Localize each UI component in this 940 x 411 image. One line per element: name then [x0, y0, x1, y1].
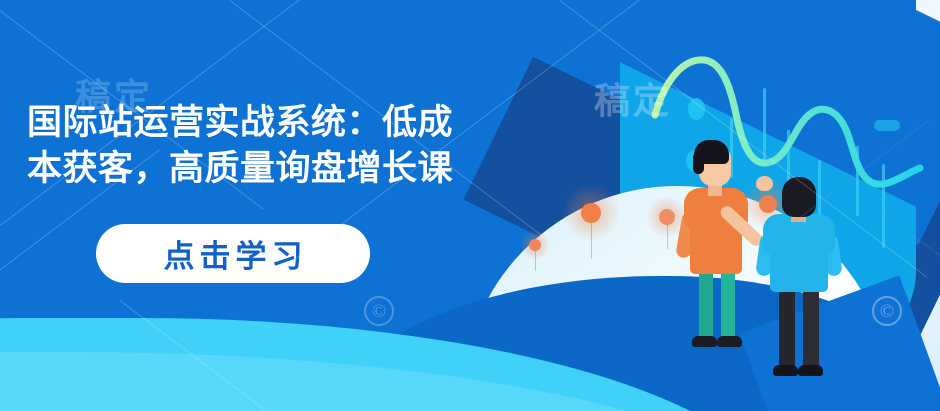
- click-to-learn-button[interactable]: 点击学习: [96, 224, 370, 283]
- figure-right-head: [782, 177, 816, 217]
- map-marker-2: [659, 209, 675, 225]
- map-marker-4: [759, 195, 777, 213]
- figure-left-hair-side: [693, 152, 704, 174]
- figure-right-leg-left: [779, 280, 795, 372]
- map-marker-stem-2: [667, 225, 668, 249]
- figure-left-shoe-right: [717, 336, 742, 347]
- figure-left-leg-left: [699, 266, 713, 344]
- map-marker-1: [581, 203, 601, 223]
- map-marker-3: [529, 239, 541, 251]
- figure-right-leg-right: [803, 280, 819, 372]
- figure-right-shoe-left: [773, 365, 798, 376]
- course-promo-banner: 国际站运营实战系统：低成 本获客，高质量询盘增长课 点击学习 稿定 稿定 © ©: [0, 0, 940, 411]
- click-to-learn-label: 点击学习: [159, 231, 308, 276]
- figure-right-shoe-right: [798, 365, 823, 376]
- figure-left-leg-right: [721, 266, 735, 344]
- banner-title: 国际站运营实战系统：低成 本获客，高质量询盘增长课: [27, 100, 627, 192]
- map-marker-stem-3: [535, 251, 536, 271]
- figure-left-shoe-left: [692, 336, 717, 347]
- map-marker-stem-1: [591, 223, 592, 259]
- figure-left-hand: [756, 176, 773, 191]
